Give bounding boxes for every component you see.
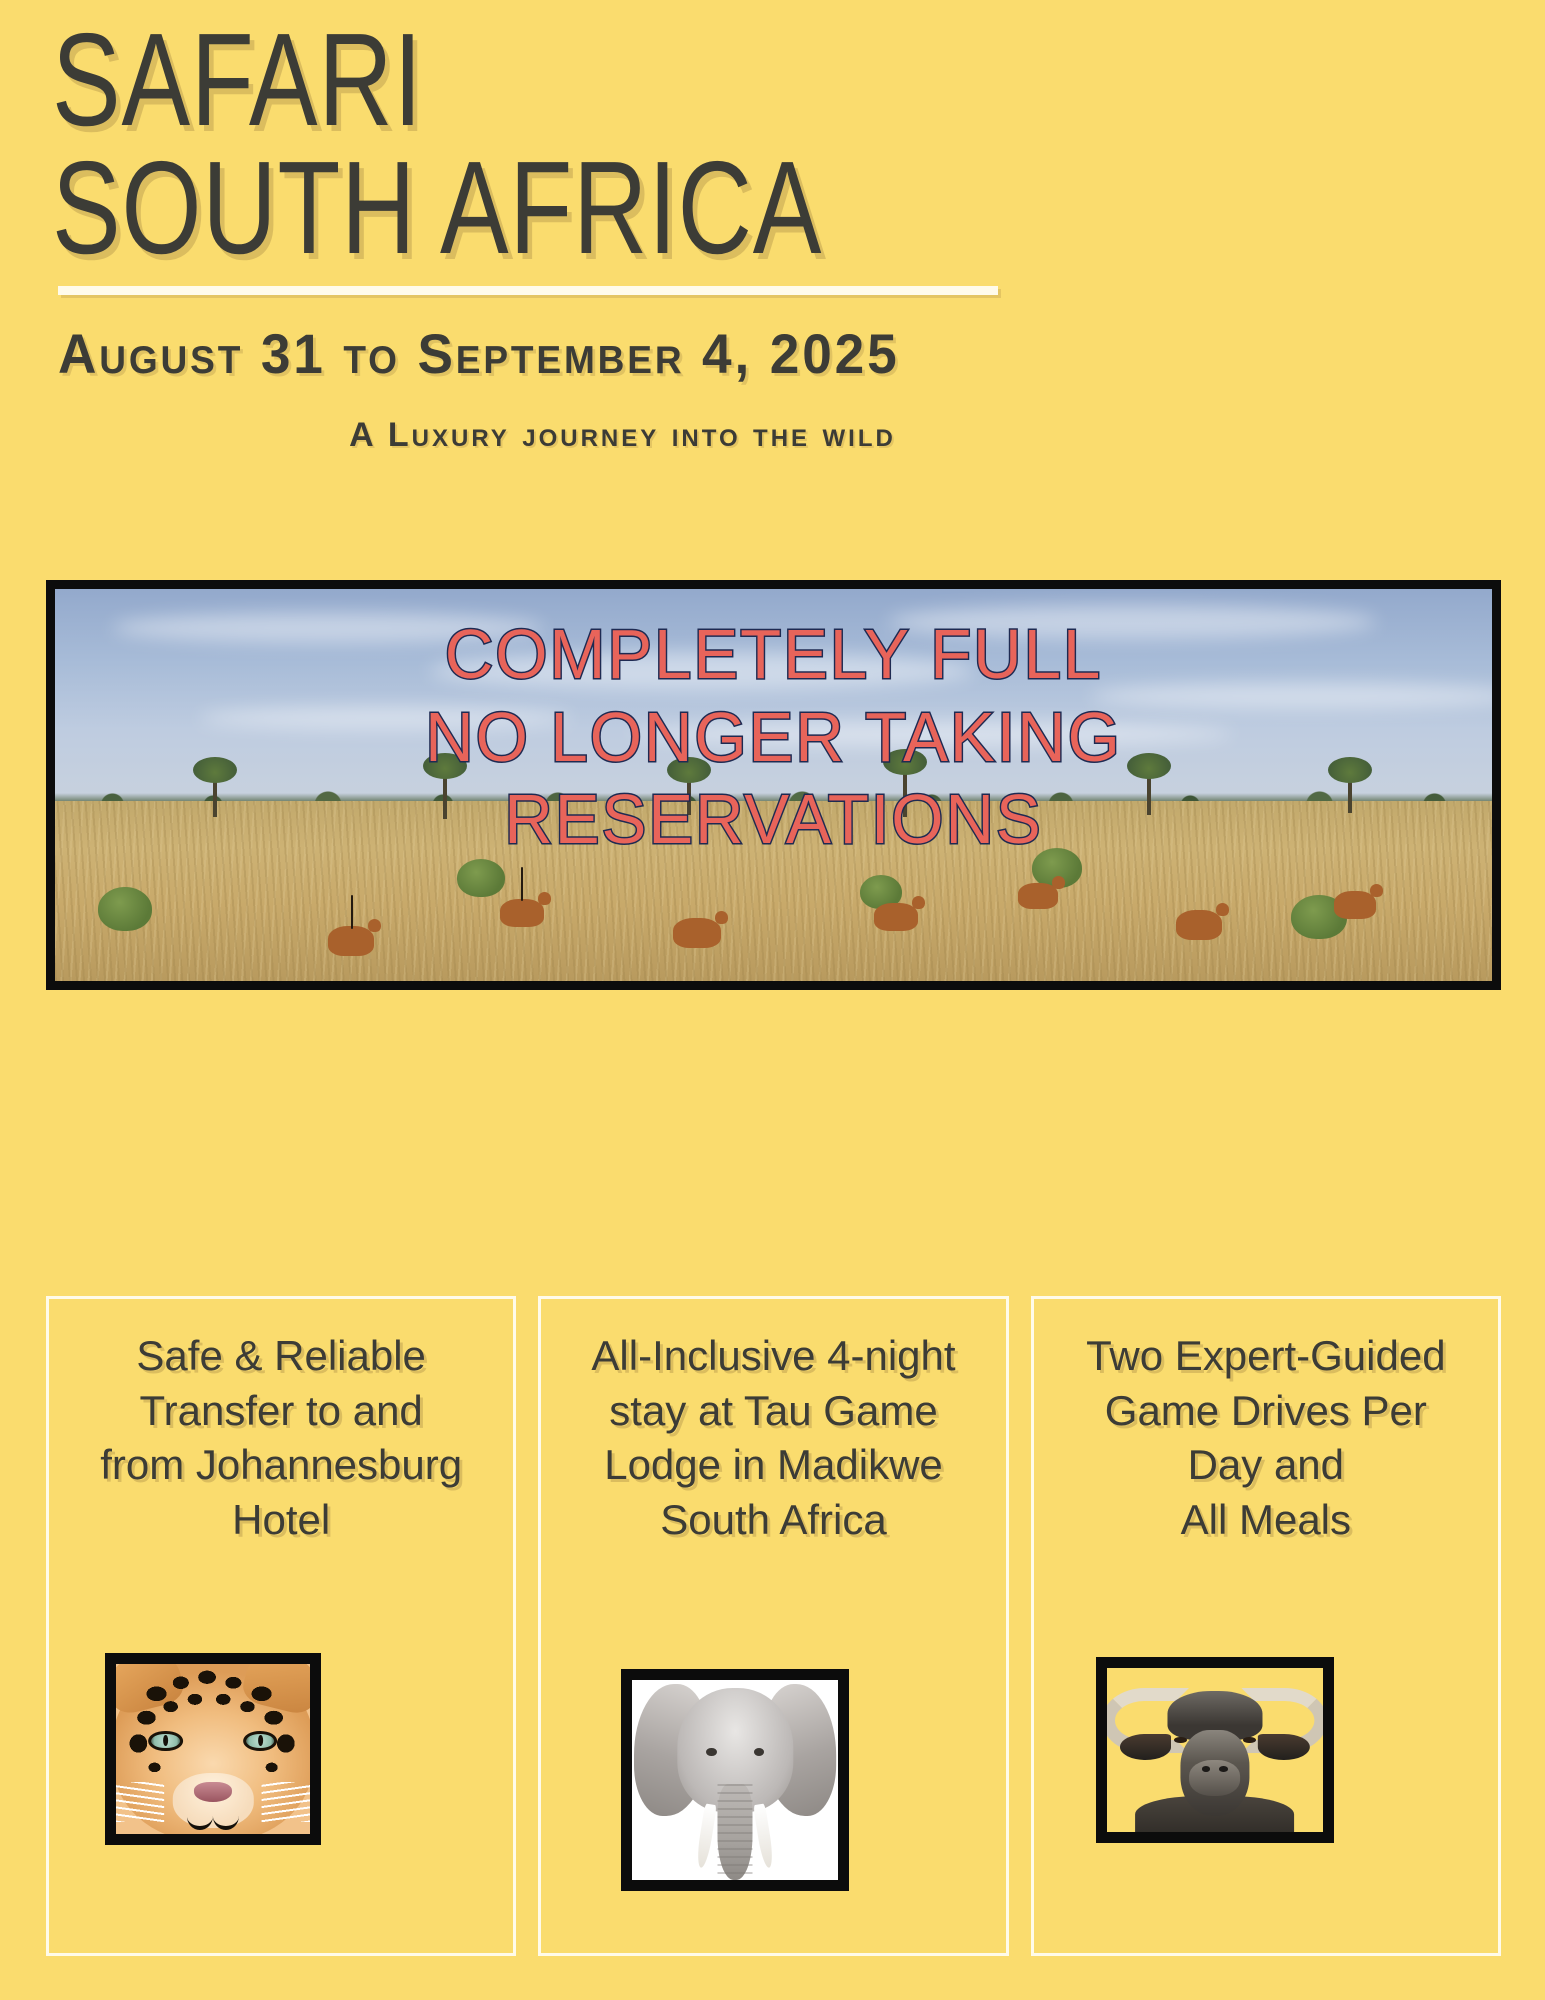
elephant-icon [621,1669,849,1891]
poster-title-line-2: SOUTH AFRICA [52,144,1217,272]
bush-shape [98,887,152,931]
safari-poster: SAFARI SOUTH AFRICA August 31 to Septemb… [0,0,1545,2000]
impala-shape [874,903,918,931]
poster-tagline: A Luxury journey into the wild [0,416,1545,455]
hero-savanna-photo: COMPLETELY FULL NO LONGER TAKING RESERVA… [46,580,1501,990]
impala-shape [1176,910,1222,940]
impala-horns [521,867,523,901]
poster-title-line-1: SAFARI [52,16,1217,144]
impala-shape [1334,891,1376,919]
sold-out-overlay: COMPLETELY FULL NO LONGER TAKING RESERVA… [84,613,1464,861]
leopard-icon [105,1653,321,1845]
cape-buffalo-icon [1096,1657,1334,1843]
feature-panel-game-drives-text: Two Expert-Guided Game Drives Per Day an… [1072,1329,1460,1547]
impala-shape [673,918,721,948]
feature-panel-game-drives: Two Expert-Guided Game Drives Per Day an… [1031,1296,1501,1956]
feature-panels: Safe & Reliable Transfer to and from Joh… [46,1296,1501,1956]
feature-panel-transfer: Safe & Reliable Transfer to and from Joh… [46,1296,516,1956]
impala-horns [351,895,353,929]
impala-shape [500,899,544,927]
feature-panel-lodge: All-Inclusive 4-night stay at Tau Game L… [538,1296,1008,1956]
feature-panel-transfer-text: Safe & Reliable Transfer to and from Joh… [86,1329,476,1547]
overlay-line-1: COMPLETELY FULL [84,613,1464,696]
bush-shape [457,859,505,897]
poster-header: SAFARI SOUTH AFRICA August 31 to Septemb… [0,0,1545,455]
title-block: SAFARI SOUTH AFRICA [0,0,1545,272]
impala-shape [1018,883,1058,909]
overlay-line-3: RESERVATIONS [84,778,1464,861]
impala-shape [328,926,374,956]
title-divider-rule [58,286,998,295]
overlay-line-2: NO LONGER TAKING [84,696,1464,779]
poster-dates: August 31 to September 4, 2025 [58,321,1471,386]
feature-panel-lodge-text: All-Inclusive 4-night stay at Tau Game L… [577,1329,969,1547]
